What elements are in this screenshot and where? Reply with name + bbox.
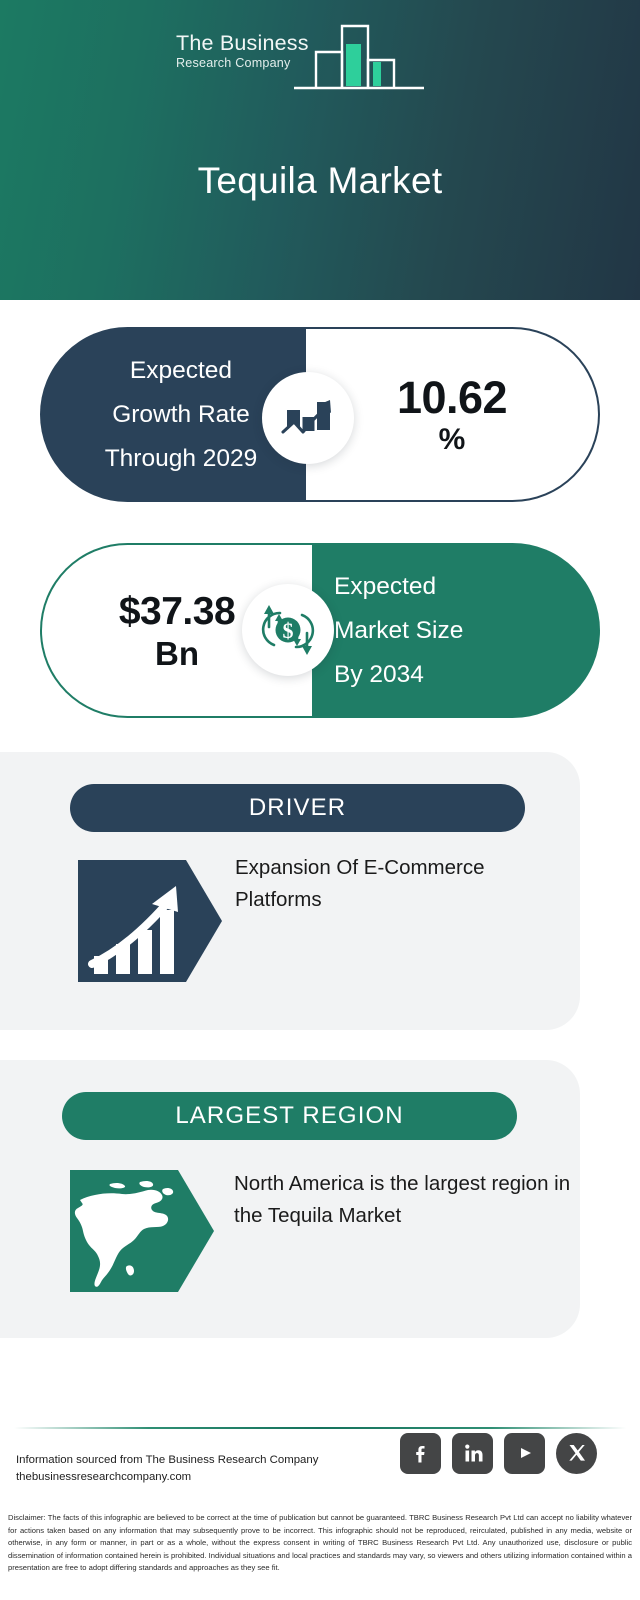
kpi-unit-2: Bn: [155, 635, 199, 673]
driver-pill: DRIVER: [70, 784, 525, 832]
social-links: [400, 1432, 610, 1474]
kpi-unit-1: %: [439, 423, 466, 457]
kpi-label-2-line1: Expected: [334, 565, 600, 609]
kpi-label-2-line3: By 2034: [334, 653, 600, 697]
region-card: LARGEST REGION North America is the larg…: [0, 1060, 580, 1338]
kpi-value-1: 10.62: [397, 373, 507, 423]
disclaimer-text: Disclaimer: The facts of this infographi…: [8, 1512, 632, 1575]
kpi-label-2: Expected Market Size By 2034: [312, 565, 600, 697]
region-text: North America is the largest region in t…: [234, 1168, 574, 1232]
kpi-label-1-line1: Expected: [105, 349, 258, 393]
kpi-label-1-line2: Growth Rate: [105, 393, 258, 437]
kpi-value-2: $37.38: [119, 589, 235, 635]
x-twitter-icon[interactable]: [556, 1433, 597, 1474]
kpi-label-block-2: Expected Market Size By 2034: [312, 543, 600, 718]
svg-text:$: $: [283, 618, 294, 643]
driver-card: DRIVER Expansion Of E-Commerce Platforms: [0, 752, 580, 1030]
header-banner: The Business Research Company Tequila Ma…: [0, 0, 640, 300]
driver-text: Expansion Of E-Commerce Platforms: [235, 852, 565, 916]
company-logo: The Business Research Company: [176, 18, 466, 90]
page-title: Tequila Market: [0, 160, 640, 202]
north-america-map-icon: [70, 1170, 214, 1292]
growth-bars-arrow-icon: [78, 860, 222, 982]
bar-chart-logo-icon: [294, 18, 469, 90]
source-line-2[interactable]: thebusinessresearchcompany.com: [16, 1469, 416, 1486]
growth-chart-arrow-icon: [262, 372, 354, 464]
youtube-icon[interactable]: [504, 1433, 545, 1474]
linkedin-icon[interactable]: [452, 1433, 493, 1474]
kpi-label-1: Expected Growth Rate Through 2029: [89, 349, 258, 481]
kpi-label-1-line3: Through 2029: [105, 437, 258, 481]
source-attribution: Information sourced from The Business Re…: [16, 1452, 416, 1486]
source-line-1: Information sourced from The Business Re…: [16, 1452, 416, 1469]
facebook-icon[interactable]: [400, 1433, 441, 1474]
footer-divider: [14, 1427, 626, 1429]
dollar-cycle-icon: $: [242, 584, 334, 676]
region-pill: LARGEST REGION: [62, 1092, 517, 1140]
kpi-label-2-line2: Market Size: [334, 609, 600, 653]
